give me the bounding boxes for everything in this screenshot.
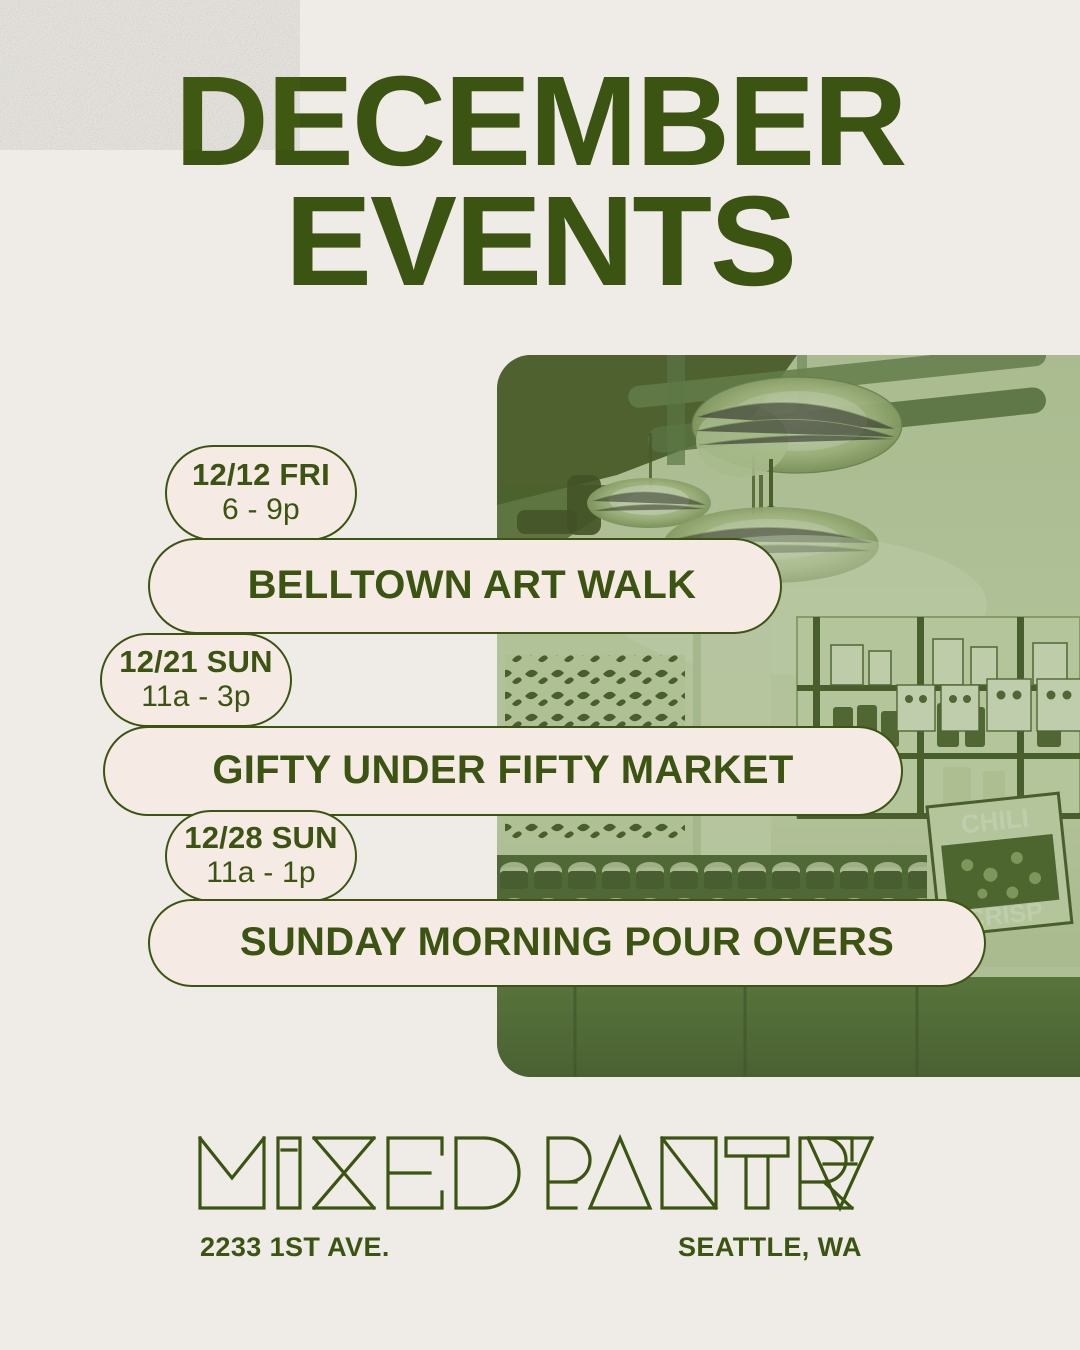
event-time-2: 11a - 3p: [141, 679, 250, 714]
event-date-2: 12/21 SUN: [119, 646, 272, 679]
event-name-3: SUNDAY MORNING POUR OVERS: [240, 920, 894, 965]
page-title-line-1: DECEMBER: [0, 62, 1080, 182]
event-date-pill-2: 12/21 SUN 11a - 3p: [100, 633, 292, 727]
event-time-3: 11a - 1p: [206, 855, 315, 890]
event-time-1: 6 - 9p: [222, 492, 300, 527]
page-title-line-2: EVENTS: [0, 182, 1080, 302]
store-address: 2233 1ST AVE.: [200, 1232, 390, 1263]
event-date-1: 12/12 FRI: [192, 459, 330, 492]
event-name-pill-3: SUNDAY MORNING POUR OVERS: [148, 899, 986, 987]
event-name-2: GIFTY UNDER FIFTY MARKET: [212, 748, 793, 793]
event-name-pill-2: GIFTY UNDER FIFTY MARKET: [103, 726, 903, 816]
event-date-3: 12/28 SUN: [184, 822, 337, 855]
event-name-pill-1: BELLTOWN ART WALK: [148, 538, 782, 634]
event-date-pill-1: 12/12 FRI 6 - 9p: [165, 445, 357, 541]
mixed-pantry-logo: [196, 1134, 874, 1212]
page-title: DECEMBER EVENTS: [0, 62, 1080, 303]
event-name-1: BELLTOWN ART WALK: [248, 563, 697, 608]
store-city: SEATTLE, WA: [678, 1232, 862, 1263]
event-date-pill-3: 12/28 SUN 11a - 1p: [165, 810, 357, 902]
